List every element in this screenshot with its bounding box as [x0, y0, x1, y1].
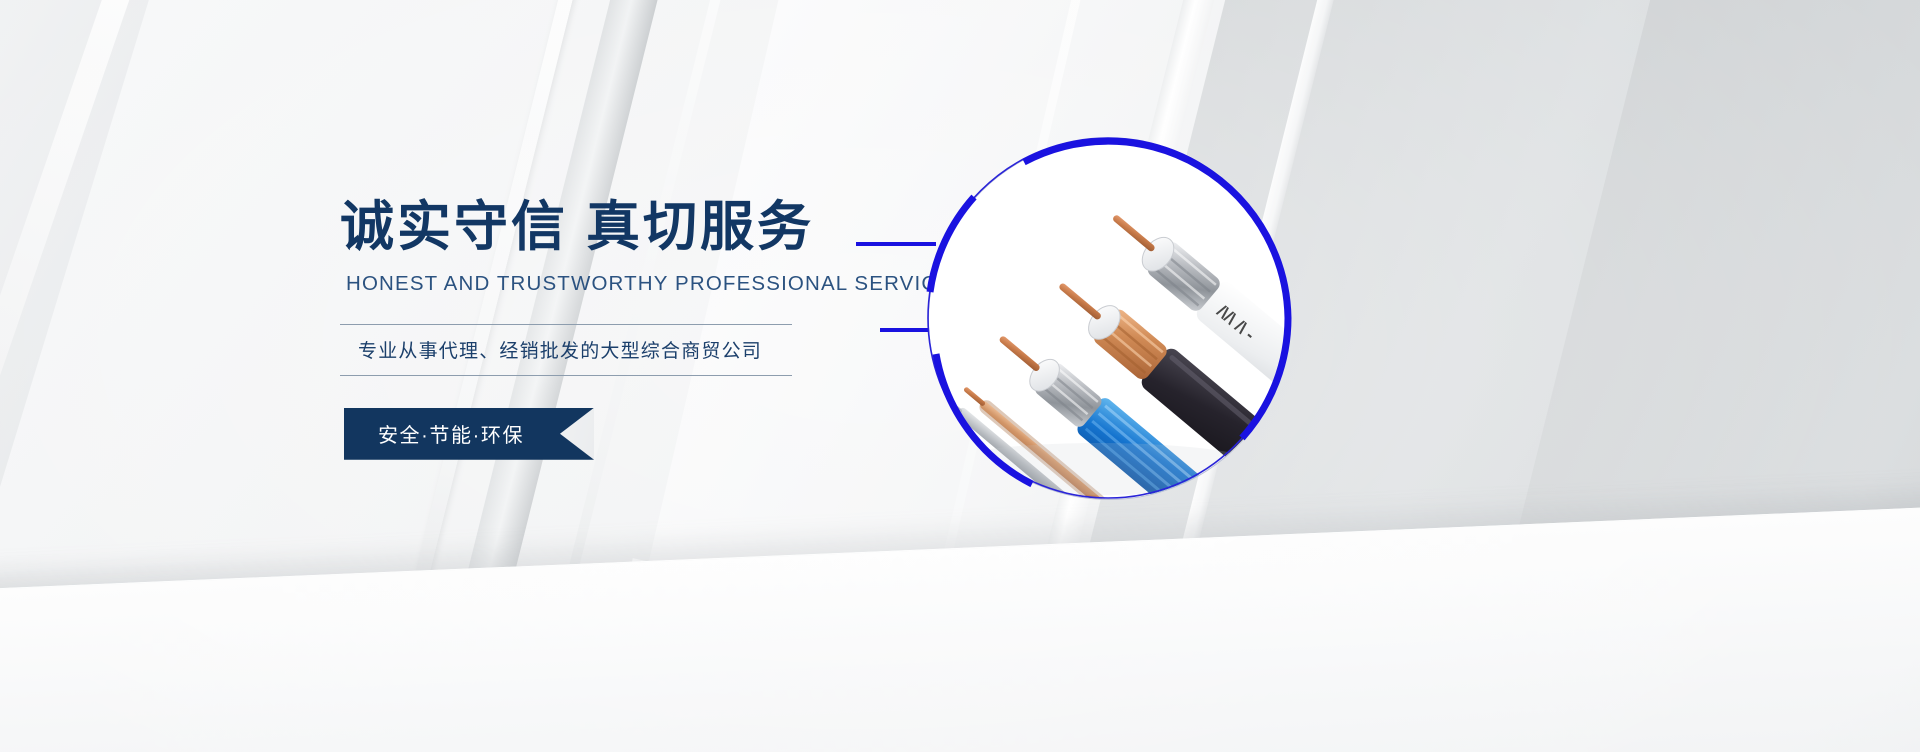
banner-text-block: 诚实守信 真切服务 HONEST AND TRUSTWORTHY PROFESS… [340, 196, 900, 460]
hero-banner: 诚实守信 真切服务 HONEST AND TRUSTWORTHY PROFESS… [0, 0, 1920, 752]
feature-tag-label: 安全·节能·环保 [344, 408, 558, 460]
product-circle: /\/\ /\ - [912, 122, 1304, 514]
banner-subtitle: HONEST AND TRUSTWORTHY PROFESSIONAL SERV… [346, 272, 900, 296]
banner-feature-tag: 安全·节能·环保 [344, 408, 594, 460]
banner-headline: 诚实守信 真切服务 [340, 196, 900, 260]
blue-circle-ring [912, 122, 1304, 514]
banner-description-frame: 专业从事代理、经销批发的大型综合商贸公司 [340, 324, 792, 376]
banner-description: 专业从事代理、经销批发的大型综合商贸公司 [358, 336, 792, 363]
